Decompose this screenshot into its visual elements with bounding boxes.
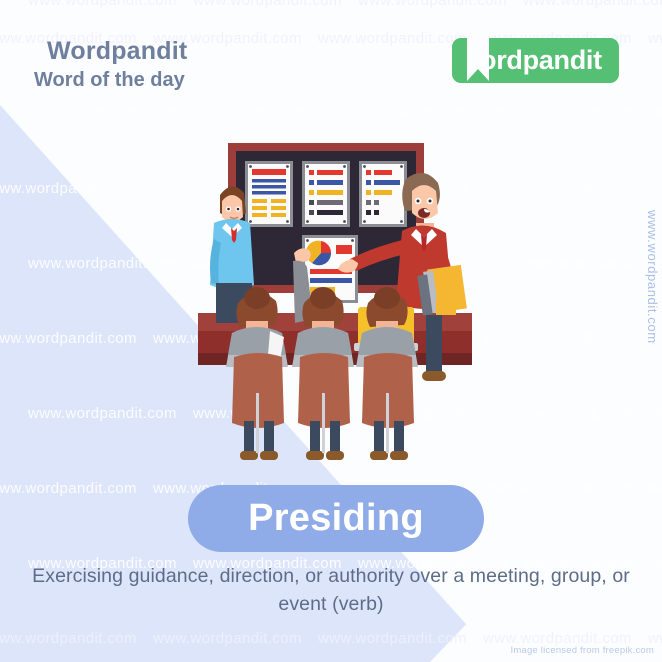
word-banner: Presiding: [188, 485, 484, 552]
watermark-text: www.wordpandit.com: [28, 405, 177, 422]
word-term: Presiding: [248, 497, 424, 540]
word-of-the-day-card: www.wordpandit.comwww.wordpandit.comwww.…: [0, 0, 662, 662]
watermark-text: www.wordpandit.com: [0, 330, 137, 347]
image-credit: Image licensed from freepik.com: [511, 645, 654, 656]
watermark-text: www.wordpandit.com: [318, 630, 467, 647]
vertical-watermark: www.wordpandit.com: [645, 210, 660, 344]
page-subtitle: Word of the day: [34, 68, 187, 93]
header: Wordpandit Word of the day: [47, 38, 187, 93]
word-definition: Exercising guidance, direction, or autho…: [0, 562, 662, 619]
brand-title: Wordpandit: [47, 38, 187, 66]
watermark-text: www.wordpandit.com: [153, 630, 302, 647]
logo-text: ordpandit: [480, 45, 602, 76]
illustration-presentation-meeting: [190, 135, 480, 465]
watermark-text: www.wordpandit.com: [0, 630, 137, 647]
wordpandit-logo[interactable]: ordpandit: [452, 38, 619, 83]
watermark-text: www.wordpandit.com: [0, 480, 137, 497]
